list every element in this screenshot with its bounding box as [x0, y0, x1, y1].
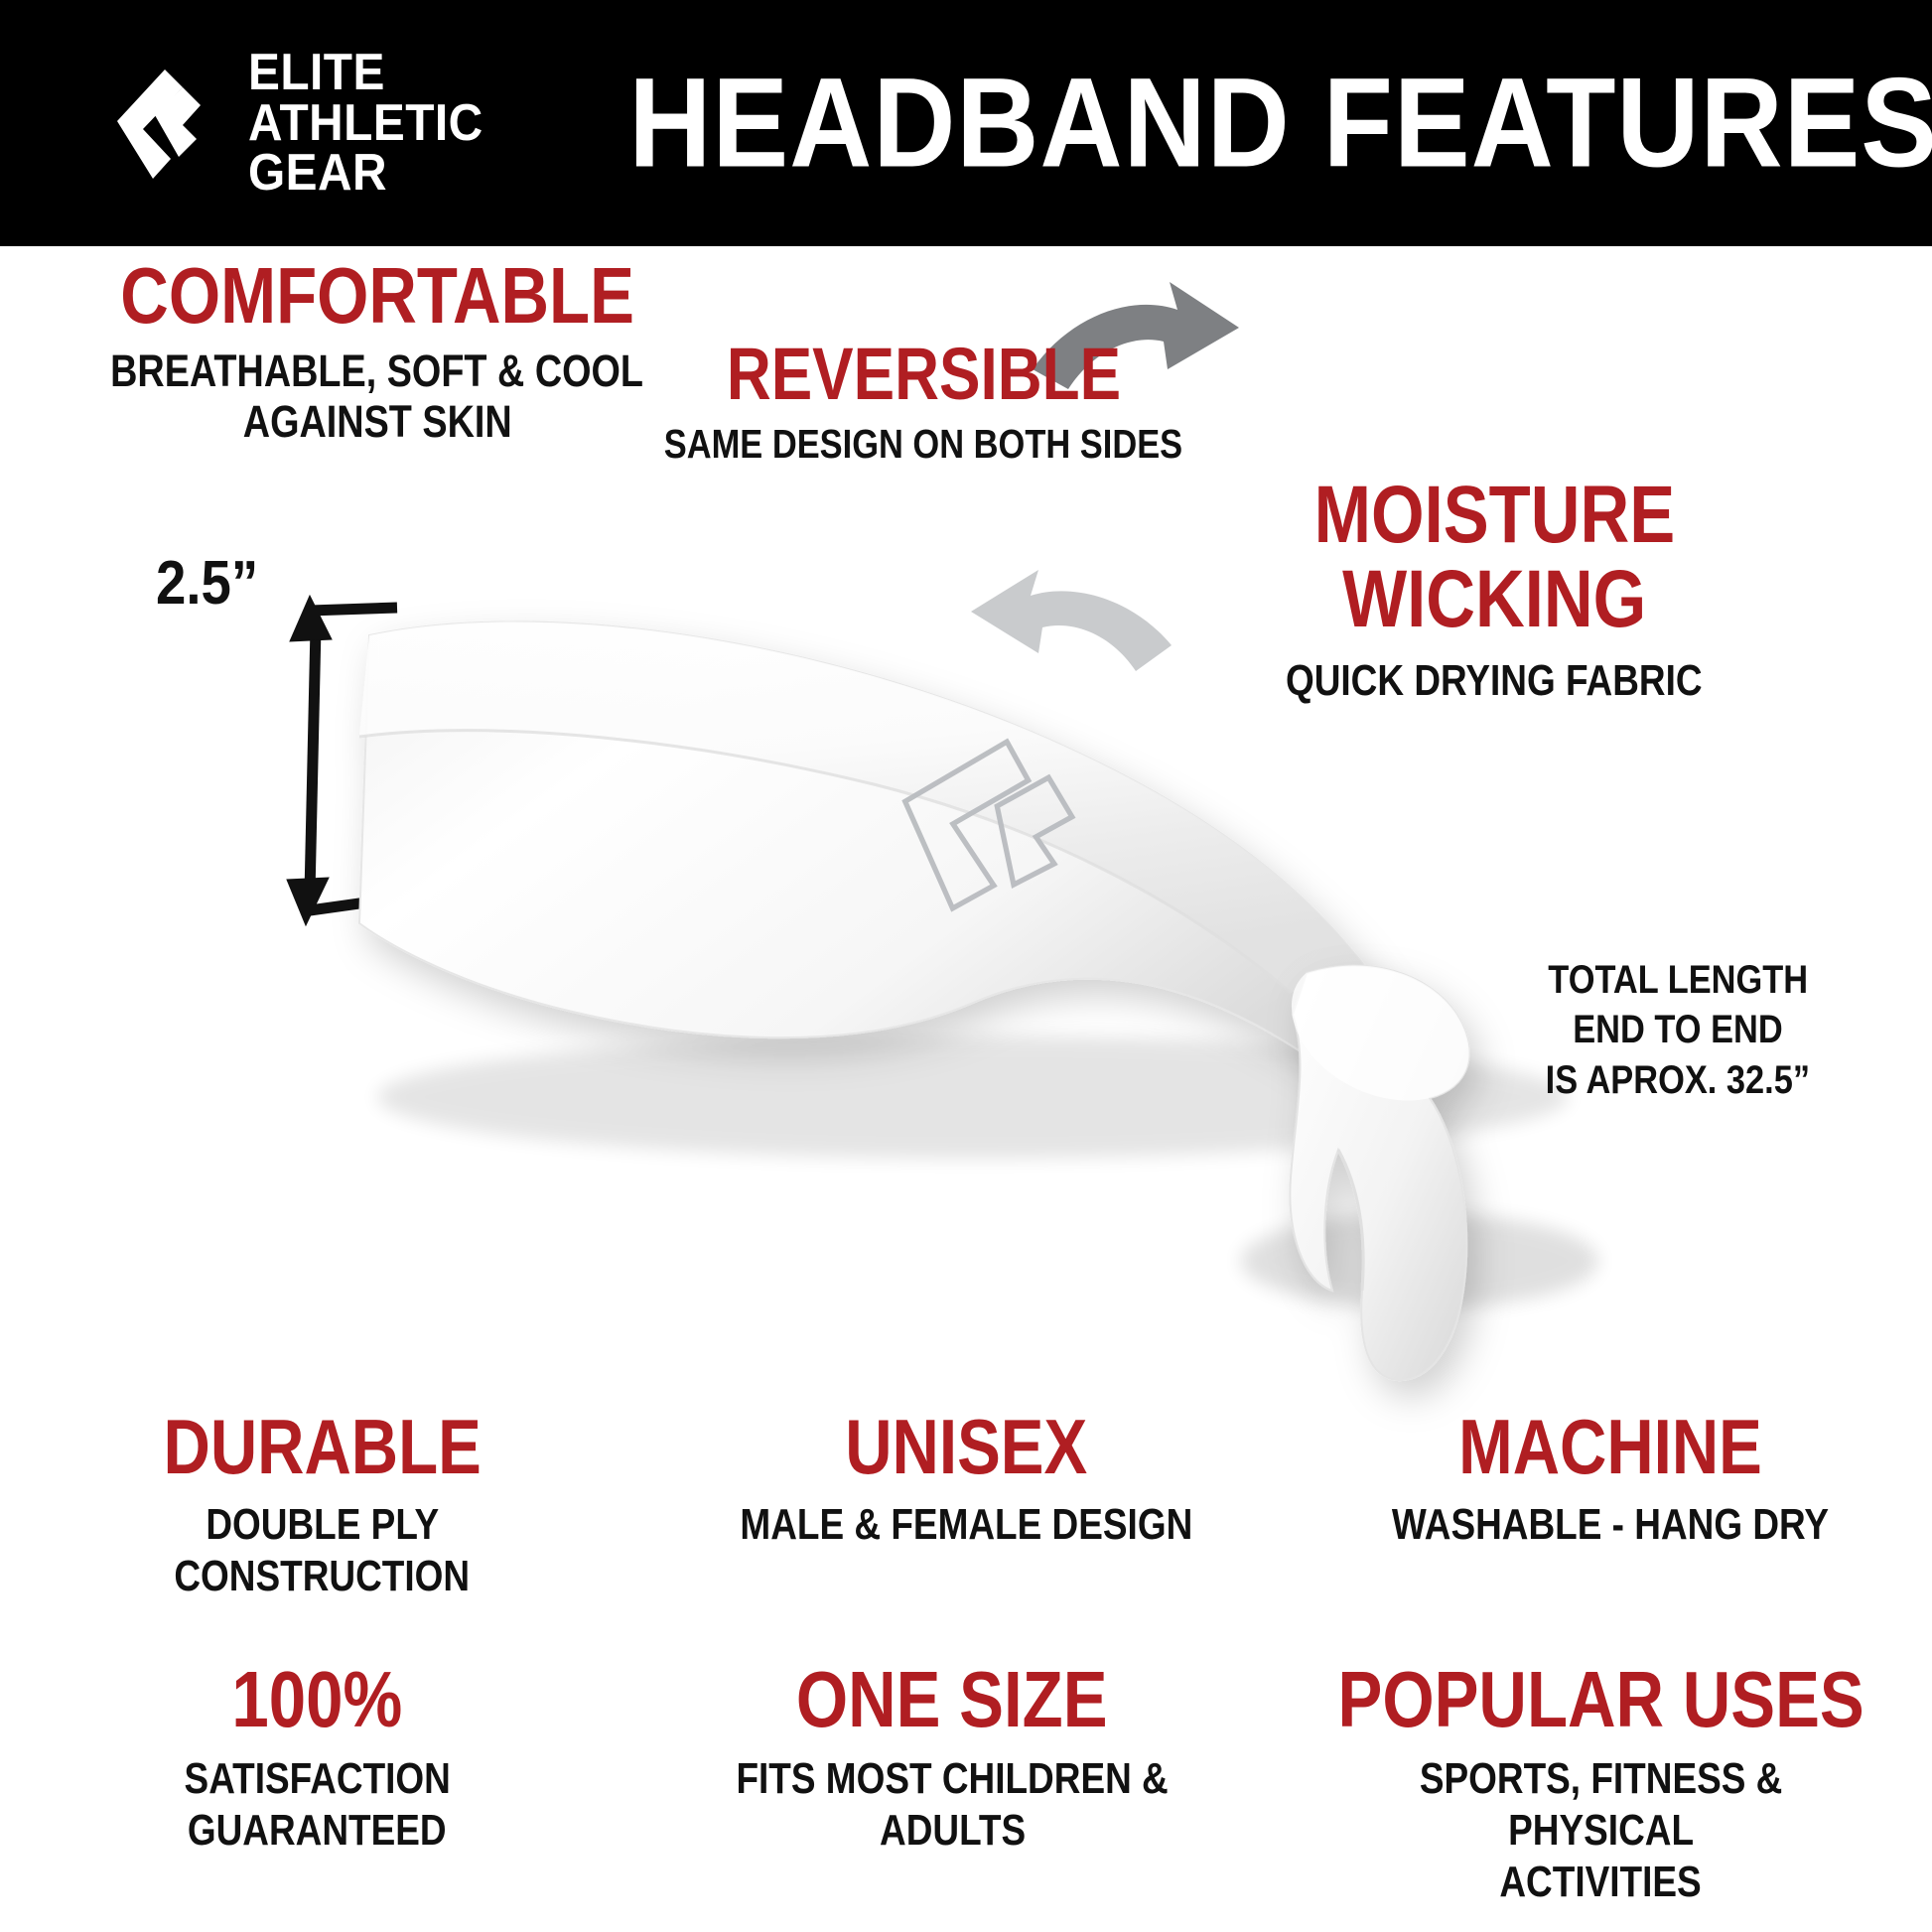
- feature-moisture-wicking: MOISTURE WICKING QUICK DRYING FABRIC: [1082, 473, 1906, 706]
- width-dimension-marker: [287, 596, 397, 925]
- feature-satisfaction: 100% SATISFACTION GUARANTEED: [0, 1660, 634, 1908]
- page-title-text: HEADBAND FEATURES: [628, 51, 1932, 197]
- feature-unisex: UNISEX MALE & FEMALE DESIGN: [644, 1408, 1289, 1602]
- feature-popular-uses-title: POPULAR USES: [1288, 1660, 1914, 1739]
- header-bar: ELITE ATHLETIC GEAR HEADBAND FEATURES: [0, 0, 1932, 246]
- brand-line-1: ELITE: [248, 48, 483, 97]
- feature-machine-subtitle: WASHABLE - HANG DRY: [1306, 1499, 1914, 1551]
- brand-line-2: ATHLETIC: [248, 98, 483, 148]
- feature-popular-uses: POPULAR USES SPORTS, FITNESS & PHYSICAL …: [1270, 1660, 1932, 1908]
- feature-comfortable-title: COMFORTABLE: [40, 256, 715, 336]
- width-dimension-label: 2.5”: [149, 548, 265, 619]
- feature-one-size-subtitle: FITS MOST CHILDREN & ADULTS: [652, 1753, 1251, 1857]
- feature-moisture-wicking-title: MOISTURE WICKING: [1082, 473, 1906, 642]
- infographic-page: ELITE ATHLETIC GEAR HEADBAND FEATURES: [0, 0, 1932, 1932]
- feature-machine-title: MACHINE: [1306, 1408, 1914, 1485]
- total-length-note: TOTAL LENGTH END TO END IS APROX. 32.5”: [1420, 955, 1932, 1105]
- feature-unisex-title: UNISEX: [662, 1408, 1271, 1485]
- brand-wordmark: ELITE ATHLETIC GEAR: [248, 48, 483, 198]
- feature-satisfaction-title: 100%: [18, 1660, 617, 1739]
- feature-unisex-subtitle: MALE & FEMALE DESIGN: [662, 1499, 1271, 1551]
- feature-durable-subtitle: DOUBLE PLY CONSTRUCTION: [18, 1499, 626, 1602]
- feature-one-size-title: ONE SIZE: [652, 1660, 1251, 1739]
- feature-durable: DURABLE DOUBLE PLY CONSTRUCTION: [0, 1408, 644, 1602]
- feature-one-size: ONE SIZE FITS MOST CHILDREN & ADULTS: [634, 1660, 1269, 1908]
- page-title: HEADBAND FEATURES: [556, 51, 1872, 197]
- brand-logo: ELITE ATHLETIC GEAR: [109, 48, 503, 198]
- elite-athletic-gear-chevron-emboss-icon: [881, 720, 1087, 933]
- feature-reversible: REVERSIBLE SAME DESIGN ON BOTH SIDES: [606, 338, 1241, 468]
- feature-reversible-title: REVERSIBLE: [606, 338, 1241, 411]
- feature-moisture-wicking-subtitle: QUICK DRYING FABRIC: [1082, 656, 1906, 706]
- feature-durable-title: DURABLE: [18, 1408, 626, 1485]
- feature-satisfaction-subtitle: SATISFACTION GUARANTEED: [18, 1753, 617, 1857]
- elite-athletic-gear-chevron-mark-icon: [109, 54, 216, 193]
- feature-popular-uses-subtitle: SPORTS, FITNESS & PHYSICAL ACTIVITIES: [1288, 1753, 1914, 1908]
- feature-reversible-subtitle: SAME DESIGN ON BOTH SIDES: [606, 421, 1241, 468]
- feature-machine: MACHINE WASHABLE - HANG DRY: [1288, 1408, 1932, 1602]
- feature-row-upper: DURABLE DOUBLE PLY CONSTRUCTION UNISEX M…: [0, 1408, 1932, 1602]
- feature-row-lower: 100% SATISFACTION GUARANTEED ONE SIZE FI…: [0, 1660, 1932, 1908]
- brand-line-3: GEAR: [248, 148, 483, 198]
